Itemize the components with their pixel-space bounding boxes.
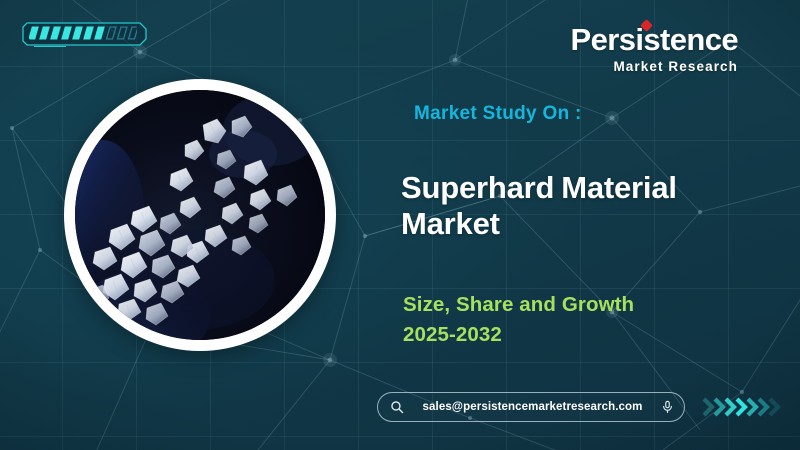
brand-name-text: Persistence bbox=[571, 22, 738, 57]
report-cover: Persistence Market Research bbox=[0, 0, 800, 450]
hud-progress-bar-icon bbox=[22, 21, 147, 47]
subtitle-line-1: Size, Share and Growth bbox=[403, 293, 634, 316]
eyebrow-label: Market Study On : bbox=[414, 103, 582, 125]
subtitle-line-2: 2025-2032 bbox=[403, 323, 502, 346]
email-address[interactable]: sales@persistencemarketresearch.com bbox=[404, 401, 661, 413]
chevron-arrows-icon bbox=[700, 391, 796, 423]
diamond-photo bbox=[75, 90, 325, 340]
title-word-1: Superhard bbox=[401, 170, 554, 205]
microphone-icon[interactable] bbox=[661, 400, 674, 414]
email-search-bar[interactable]: sales@persistencemarketresearch.com bbox=[377, 392, 685, 422]
title-word-2: Material bbox=[561, 170, 677, 205]
diamond-crystals-illustration bbox=[75, 90, 325, 340]
brand-logo: Persistence Market Research bbox=[571, 24, 738, 74]
brand-tagline: Market Research bbox=[571, 60, 738, 74]
brand-name: Persistence bbox=[571, 24, 738, 55]
diamond-photo-circle bbox=[64, 79, 336, 351]
page-subtitle: Size, Share and Growth 2025-2032 bbox=[403, 290, 783, 349]
page-title: SuperhardMaterial Market bbox=[401, 170, 791, 243]
title-word-3: Market bbox=[401, 206, 500, 241]
search-icon[interactable] bbox=[390, 400, 404, 414]
